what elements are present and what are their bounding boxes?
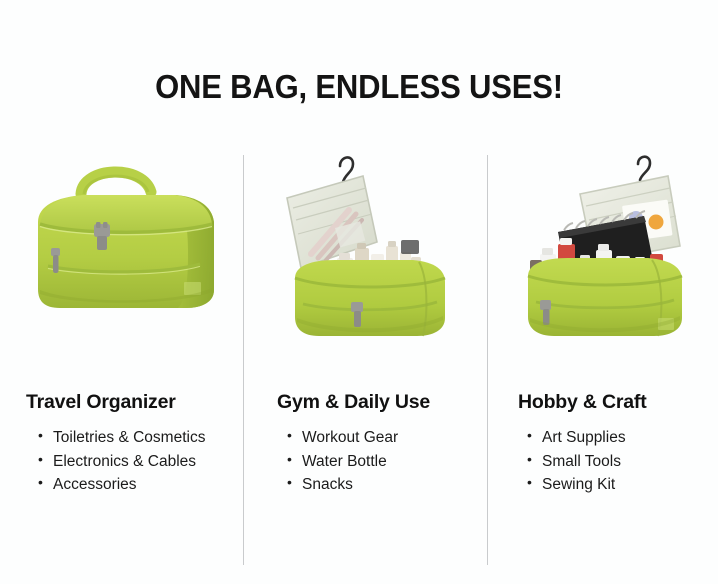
list-item: Snacks bbox=[287, 473, 487, 497]
closed-lime-toiletry-bag-icon bbox=[26, 150, 231, 340]
use-case-column-gym-daily-use: Gym & Daily Use Workout Gear Water Bottl… bbox=[243, 150, 487, 570]
benefit-list-hobby-craft: Art Supplies Small Tools Sewing Kit bbox=[527, 426, 718, 497]
open-lime-bag-with-art-supplies-icon bbox=[518, 150, 698, 350]
hanging-hook-icon bbox=[340, 157, 353, 182]
benefit-list-gym-daily-use: Workout Gear Water Bottle Snacks bbox=[287, 426, 487, 497]
list-item: Water Bottle bbox=[287, 450, 487, 474]
list-item: Accessories bbox=[38, 473, 243, 497]
use-case-column-hobby-craft: Hobby & Craft Art Supplies Small Tools S… bbox=[487, 150, 718, 570]
list-item: Toiletries & Cosmetics bbox=[38, 426, 243, 450]
column-heading-hobby-craft: Hobby & Craft bbox=[518, 391, 718, 414]
hanging-hook-icon bbox=[638, 157, 650, 180]
list-item: Sewing Kit bbox=[527, 473, 718, 497]
product-photo-closed-bag bbox=[26, 150, 243, 375]
list-item: Electronics & Cables bbox=[38, 450, 243, 474]
list-item: Art Supplies bbox=[527, 426, 718, 450]
open-lime-bag-with-cosmetics-icon bbox=[277, 150, 457, 350]
product-photo-open-bag-cosmetics bbox=[277, 150, 487, 375]
page-title: ONE BAG, ENDLESS USES! bbox=[22, 68, 697, 106]
column-heading-travel-organizer: Travel Organizer bbox=[26, 391, 243, 414]
column-heading-gym-daily-use: Gym & Daily Use bbox=[277, 391, 487, 414]
use-case-column-travel-organizer: Travel Organizer Toiletries & Cosmetics … bbox=[0, 150, 243, 570]
use-case-columns: Travel Organizer Toiletries & Cosmetics … bbox=[0, 150, 718, 570]
list-item: Workout Gear bbox=[287, 426, 487, 450]
infographic-page: ONE BAG, ENDLESS USES! bbox=[0, 0, 718, 584]
benefit-list-travel-organizer: Toiletries & Cosmetics Electronics & Cab… bbox=[38, 426, 243, 497]
product-photo-open-bag-art-supplies bbox=[518, 150, 718, 375]
list-item: Small Tools bbox=[527, 450, 718, 474]
